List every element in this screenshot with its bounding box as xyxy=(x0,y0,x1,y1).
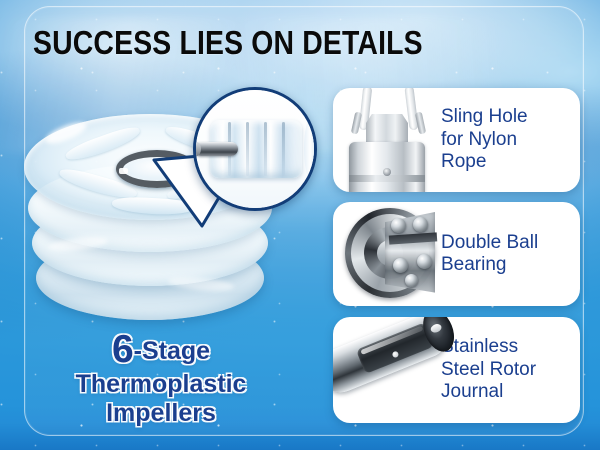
caption-line-2: Thermoplastic xyxy=(36,370,286,398)
pump-head-band xyxy=(349,175,425,182)
product-caption: 6-Stage Thermoplastic Impellers xyxy=(36,330,286,427)
feature-card-sling-hole[interactable]: Sling Hole for Nylon Rope xyxy=(333,88,580,192)
feature-card-double-ball-bearing[interactable]: Double Ball Bearing xyxy=(333,202,580,306)
card-label-line-1: Sling Hole xyxy=(441,106,528,128)
pump-head-hex-nut xyxy=(366,114,408,144)
card-label-line-3: Rope xyxy=(441,151,528,173)
bearing-ball xyxy=(393,258,408,273)
bearing-ball xyxy=(405,274,418,287)
infographic-canvas: SUCCESS LIES ON DETAILS xyxy=(0,0,600,450)
pump-head-icon xyxy=(333,88,441,192)
rotor-journal-shaft xyxy=(333,317,454,399)
ball-bearing-assembly xyxy=(345,208,435,298)
bearing-ball xyxy=(413,217,428,232)
feature-card-label: Double Ball Bearing xyxy=(441,232,544,277)
caption-stage-count: 6 xyxy=(112,328,134,371)
card-label-line-2: Bearing xyxy=(441,254,538,276)
pump-head-body xyxy=(349,142,425,192)
feature-card-rotor-journal[interactable]: Stainless Steel Rotor Journal xyxy=(333,317,580,423)
card-label-line-2: Steel Rotor xyxy=(441,359,536,381)
card-label-line-1: Stainless xyxy=(441,336,536,358)
card-label-line-1: Double Ball xyxy=(441,232,538,254)
magnifier-callout-circle xyxy=(193,87,317,211)
bearing-ball xyxy=(391,218,406,233)
rotor-journal-icon xyxy=(333,317,441,423)
card-label-line-3: Journal xyxy=(441,381,536,403)
card-label-line-2: for Nylon xyxy=(441,129,528,151)
feature-card-label: Sling Hole for Nylon Rope xyxy=(441,106,534,173)
caption-stage-word: -Stage xyxy=(134,337,210,365)
ball-bearing-icon xyxy=(333,202,441,306)
caption-line-3: Impellers xyxy=(36,399,286,427)
callout-impeller-ring xyxy=(246,122,249,176)
bearing-ball xyxy=(417,254,432,269)
sling-hole-lug xyxy=(415,112,426,135)
pump-head-screw xyxy=(383,168,391,176)
caption-line-1: 6-Stage xyxy=(36,330,286,369)
callout-impeller-ring xyxy=(264,122,267,176)
callout-impeller-ring xyxy=(282,122,285,176)
page-title: SUCCESS LIES ON DETAILS xyxy=(33,26,423,59)
feature-card-label: Stainless Steel Rotor Journal xyxy=(441,336,542,403)
